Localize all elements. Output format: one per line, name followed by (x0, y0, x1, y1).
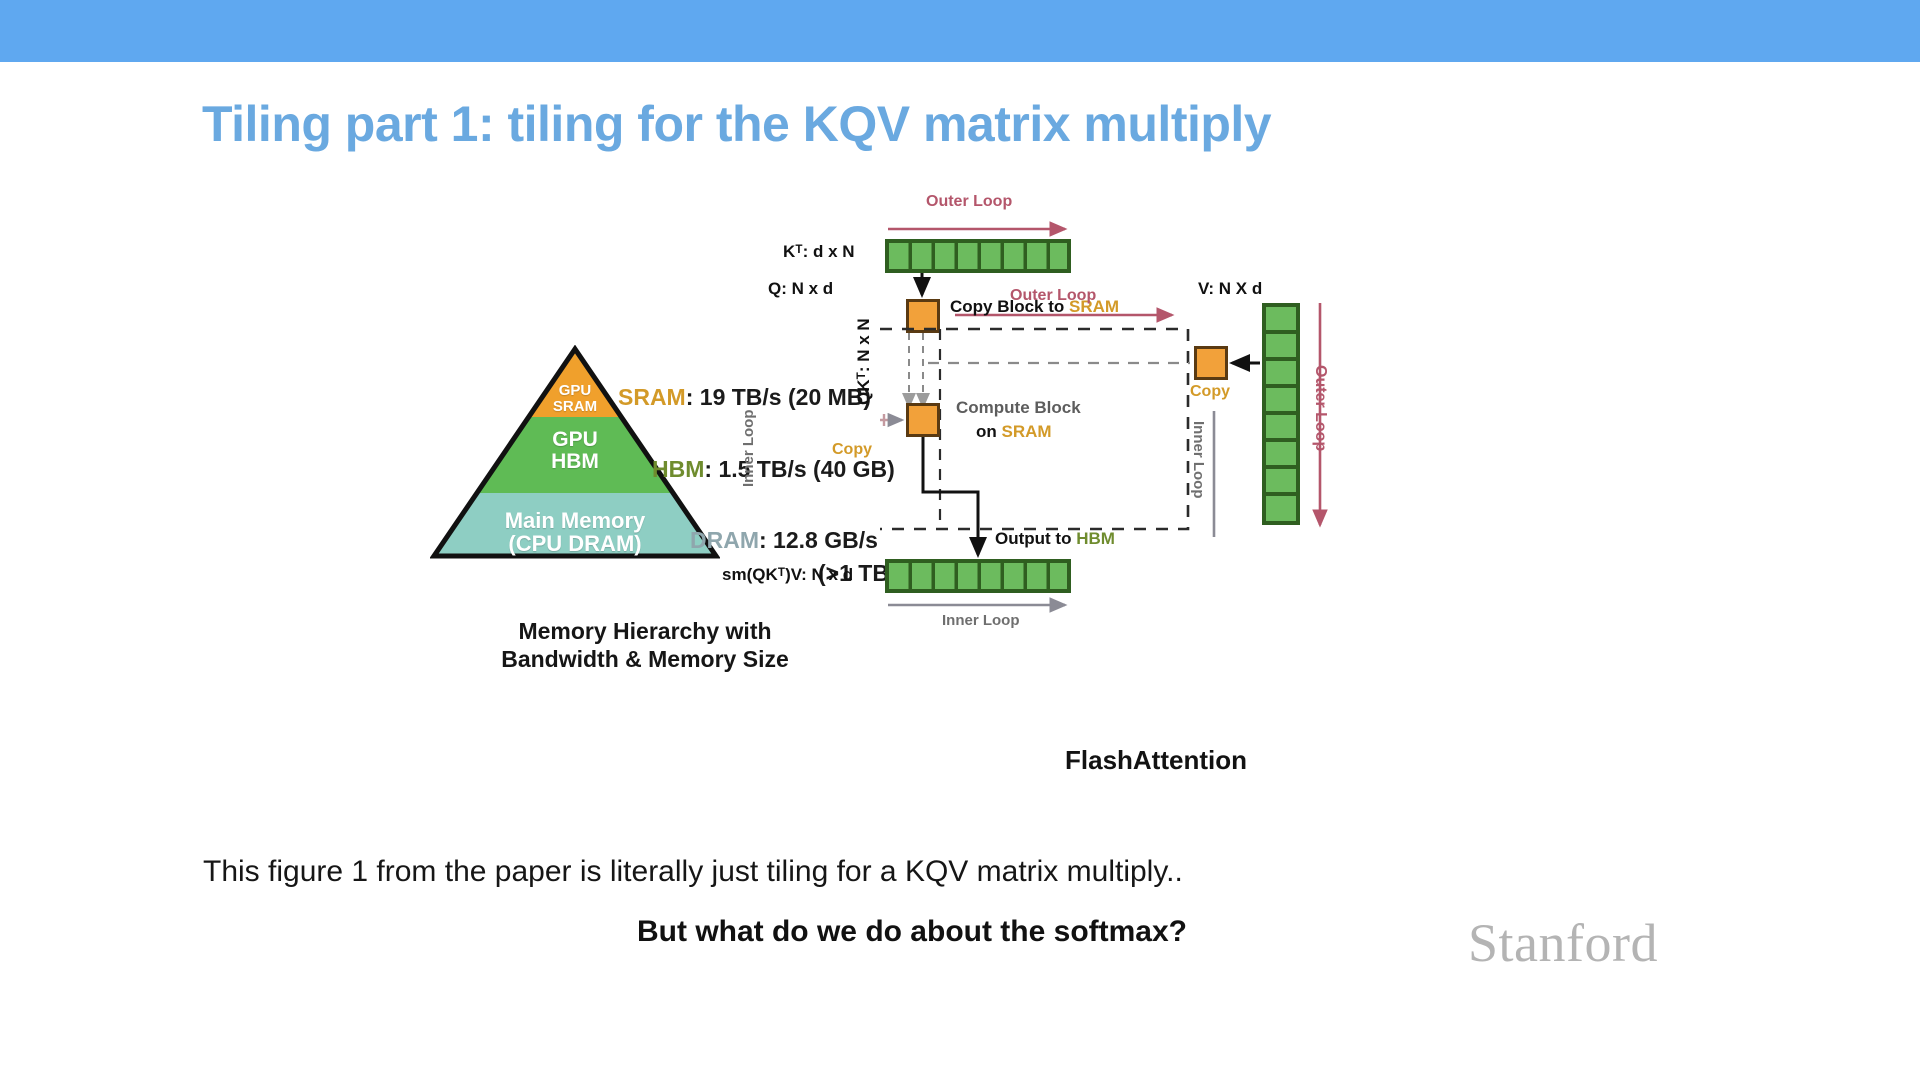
label-v-matrix: V: N X d (1198, 279, 1262, 299)
kt-block-row (885, 239, 1071, 273)
bandwidth-sram-value: : 19 TB/s (20 MB) (686, 384, 871, 410)
bandwidth-hbm-key: HBM (652, 456, 704, 482)
bandwidth-hbm: HBM: 1.5 TB/s (40 GB) (652, 456, 895, 483)
pyramid-tier-dram-label: Main Memory (CPU DRAM) (430, 509, 720, 555)
slide-root: Tiling part 1: tiling for the KQV matrix… (0, 0, 1920, 1080)
label-outer-loop-right: Outer Loop (1311, 365, 1329, 451)
v-copy-block (1194, 346, 1228, 380)
stanford-logo: Stanford (1468, 912, 1658, 974)
label-copy-left: Copy (832, 441, 872, 459)
label-copy-right: Copy (1190, 383, 1230, 401)
bandwidth-sram: SRAM: 19 TB/s (20 MB) (618, 384, 871, 411)
v-block-column (1262, 303, 1300, 525)
page-title: Tiling part 1: tiling for the KQV matrix… (202, 95, 1271, 153)
bandwidth-hbm-value: : 1.5 TB/s (40 GB) (704, 456, 894, 482)
compute-block-sram-key: SRAM (1002, 422, 1052, 441)
memory-hierarchy-caption-line2: Bandwidth & Memory Size (501, 646, 789, 672)
label-output-matrix: sm(QKᵀ)V: N x d (722, 565, 853, 585)
flashattention-diagram: Outer Loop Kᵀ: d x N Copy Block to SRAM … (880, 215, 1480, 775)
label-outer-loop-top: Outer Loop (926, 193, 1012, 211)
output-block-row (885, 559, 1071, 593)
label-inner-loop-bottom: Inner Loop (942, 612, 1020, 629)
label-kt-matrix: Kᵀ: d x N (783, 242, 855, 262)
bandwidth-sram-key: SRAM (618, 384, 686, 410)
top-accent-bar (0, 0, 1920, 62)
flashattention-caption: FlashAttention (1065, 745, 1247, 776)
compute-block-on-prefix: on (976, 422, 1002, 441)
label-inner-loop-left: Inner Loop (740, 410, 757, 488)
footer-line-2: But what do we do about the softmax? (637, 915, 1187, 949)
bandwidth-dram-key: DRAM (690, 527, 759, 553)
memory-hierarchy-caption-line1: Memory Hierarchy with (518, 618, 771, 644)
label-compute-block-line2: on SRAM (976, 422, 1052, 442)
output-to-hbm-prefix: Output to (995, 529, 1076, 548)
output-to-hbm-key: HBM (1076, 529, 1115, 548)
bandwidth-dram: DRAM: 12.8 GB/s (690, 527, 878, 554)
label-inner-loop-right: Inner Loop (1190, 421, 1207, 499)
label-outer-loop-middle: Outer Loop (1010, 287, 1096, 305)
memory-hierarchy-caption: Memory Hierarchy with Bandwidth & Memory… (480, 617, 810, 673)
label-output-to-hbm: Output to HBM (995, 529, 1115, 549)
label-qkt-matrix: QKᵀ: N x N (854, 318, 874, 405)
label-q-matrix: Q: N x d (768, 279, 833, 299)
label-compute-block-line1: Compute Block (956, 398, 1081, 418)
footer-line-1: This figure 1 from the paper is literall… (203, 855, 1183, 889)
compute-block (906, 403, 940, 437)
bandwidth-dram-value: : 12.8 GB/s (759, 527, 878, 553)
